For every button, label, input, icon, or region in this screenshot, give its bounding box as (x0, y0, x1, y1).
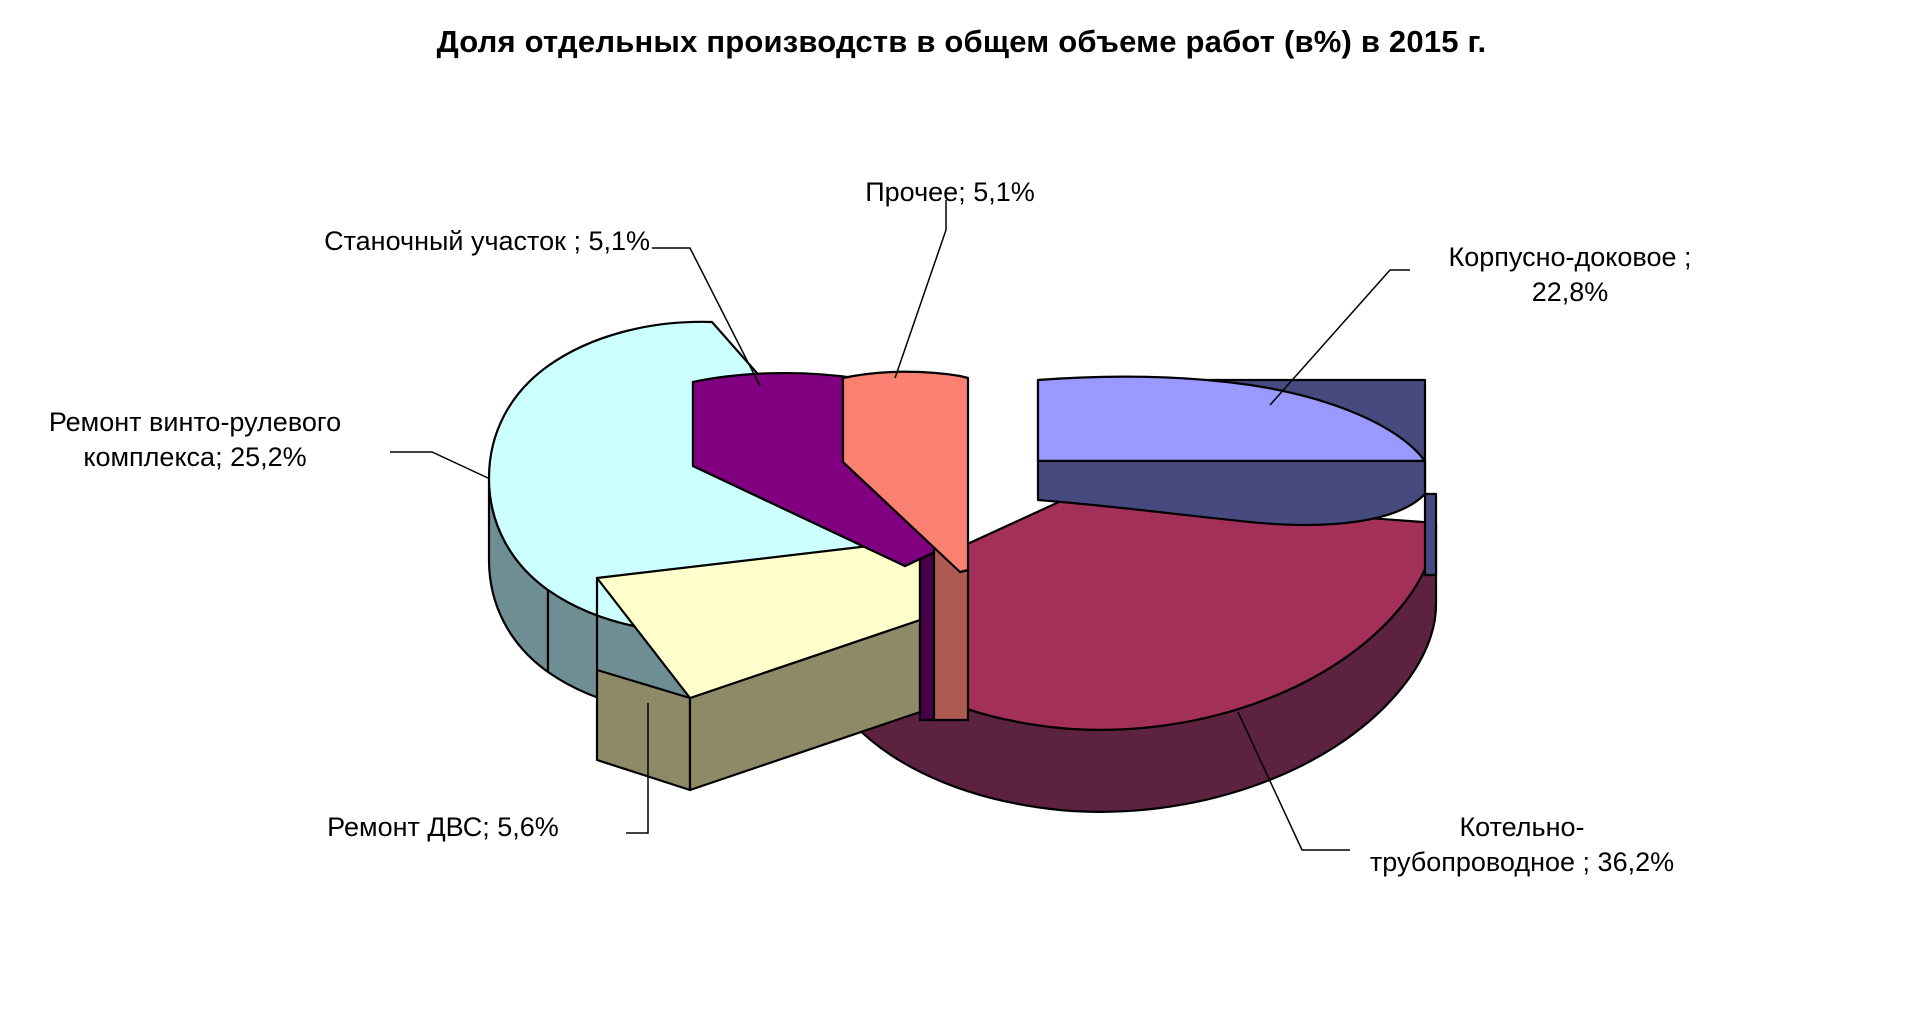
pie-chart-figure: Доля отдельных производств в общем объем… (0, 0, 1923, 1015)
data-label-korpusno-dokovoe: Корпусно-доковое ; 22,8% (1395, 240, 1745, 309)
leader-line-remont-vinto-rulevogo (390, 452, 488, 478)
data-label-stanochny-uchastok: Станочный участок ; 5,1% (250, 224, 650, 259)
data-label-remont-dvs: Ремонт ДВС; 5,6% (260, 810, 626, 845)
data-label-remont-vinto-rulevogo: Ремонт винто-рулевого комплекса; 25,2% (0, 405, 390, 474)
data-label-kotelno-truboprovodnoe: Котельно- трубопроводное ; 36,2% (1322, 810, 1722, 879)
leader-line-prochee (895, 200, 946, 378)
data-label-prochee: Прочее; 5,1% (790, 175, 1110, 210)
